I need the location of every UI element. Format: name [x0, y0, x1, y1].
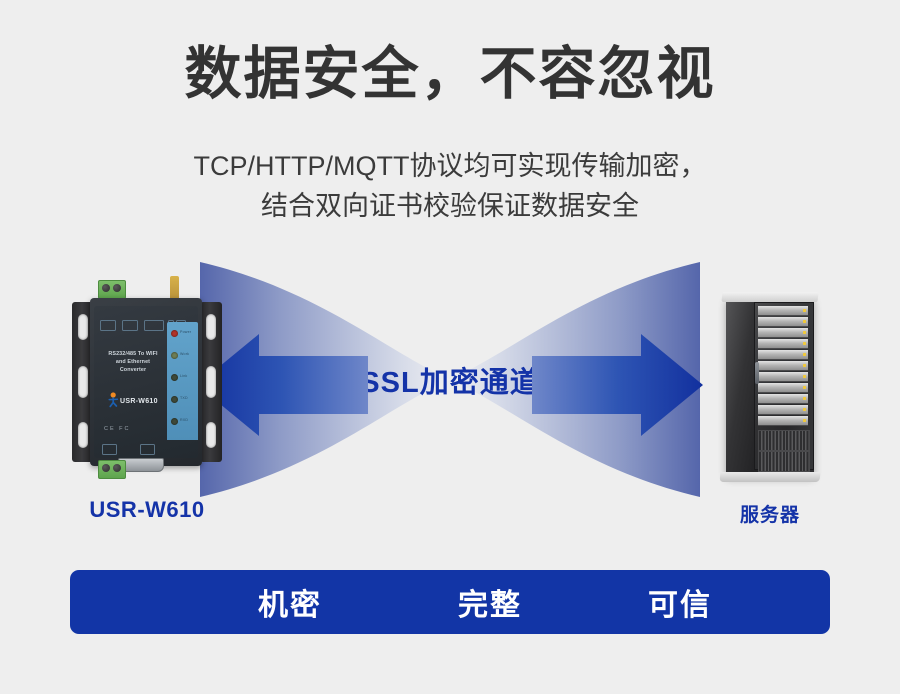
bottom-port-label-2: [140, 444, 155, 455]
device-caption: USR-W610: [42, 497, 252, 523]
device-faceplate: RS232/485 To WIFI and Ethernet Converter…: [94, 306, 198, 458]
rack-side-panel: [726, 300, 754, 472]
subtitle-line-2: 结合双向证书校验保证数据安全: [0, 186, 900, 226]
antenna-connector: [170, 276, 179, 300]
device-usr-w610-image: RS232/485 To WIFI and Ethernet Converter…: [72, 288, 222, 478]
device-led-panel: Power Work Link TXD RXD: [167, 322, 198, 440]
port-label-2: [122, 320, 138, 331]
page-title: 数据安全，不容忽视: [0, 43, 900, 107]
device-print-line-2: and Ethernet: [102, 358, 164, 366]
device-model-print: USR-W610: [120, 398, 170, 405]
subtitle-line-1: TCP/HTTP/MQTT协议均可实现传输加密，: [0, 146, 900, 186]
led-label-txd: TXD: [180, 396, 188, 400]
marketing-slide: 数据安全，不容忽视 TCP/HTTP/MQTT协议均可实现传输加密， 结合双向证…: [0, 0, 900, 694]
device-body: RS232/485 To WIFI and Ethernet Converter…: [90, 298, 202, 466]
led-label-power: Power: [180, 330, 191, 334]
feature-item-confidential: 机密: [225, 580, 355, 624]
usr-brand-logo-icon: [106, 392, 120, 408]
feature-banner-items: 机密 完整 可信: [70, 570, 830, 634]
server-caption: 服务器: [672, 500, 868, 527]
rack-top-panel: [721, 292, 818, 302]
terminal-block-top: [98, 280, 126, 299]
port-label-1: [100, 320, 116, 331]
led-label-rxd: RXD: [180, 418, 188, 422]
device-print-text: RS232/485 To WIFI and Ethernet Converter: [102, 350, 164, 374]
mount-bracket-right: [200, 302, 222, 462]
feature-item-integrity: 完整: [425, 580, 555, 624]
feature-banner: 机密 完整 可信: [70, 570, 830, 634]
led-label-link: Link: [180, 374, 187, 378]
bottom-port-label-1: [102, 444, 117, 455]
arrow-to-server-icon: [532, 330, 707, 440]
feature-item-trusted: 可信: [615, 580, 745, 624]
port-label-3: [144, 320, 164, 331]
page-subtitle: TCP/HTTP/MQTT协议均可实现传输加密， 结合双向证书校验保证数据安全: [0, 146, 900, 226]
device-certification-marks: CE FC: [104, 426, 166, 432]
led-label-work: Work: [180, 352, 189, 356]
device-print-line-3: Converter: [102, 366, 164, 374]
device-print-line-1: RS232/485 To WIFI: [102, 350, 164, 358]
rack-base-panel: [719, 472, 820, 482]
server-rack-image: [718, 292, 822, 486]
rack-door-handle: [755, 362, 759, 384]
terminal-block-bottom: [98, 460, 126, 479]
